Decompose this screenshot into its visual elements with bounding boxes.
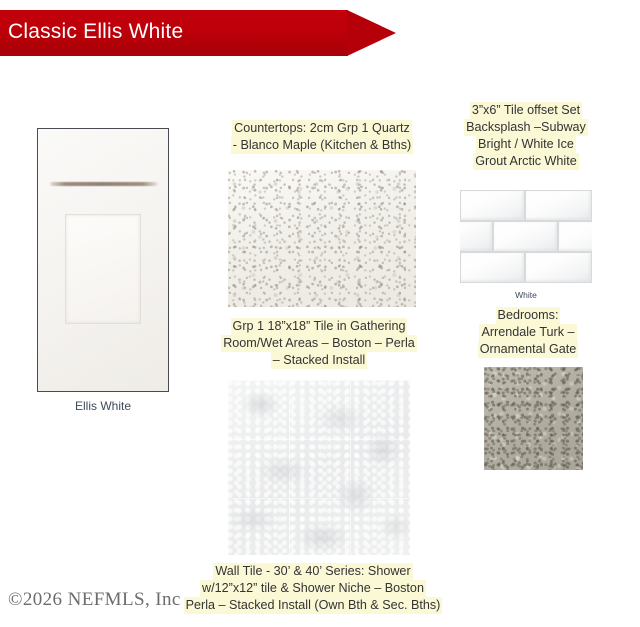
backsplash-label: 3”x6” Tile offset Set Backsplash –Subway… <box>450 102 602 170</box>
subway-tile-caption: White <box>460 290 592 300</box>
wall-tile-label-line-3: Perla – Stacked Install (Own Bth & Sec. … <box>184 597 443 614</box>
subway-tile-unit <box>526 191 591 220</box>
subway-tile-unit <box>526 253 591 282</box>
backsplash-label-line-2: Backsplash –Subway <box>464 119 588 136</box>
carpet-label-line-3: Ornamental Gate <box>478 341 579 358</box>
countertop-label-line-1: Countertops: 2cm Grp 1 Quartz <box>232 120 412 137</box>
cabinet-door-sample <box>37 128 169 392</box>
cabinet-caption: Ellis White <box>37 399 169 413</box>
subway-tile-unit <box>494 222 557 251</box>
subway-tile-unit <box>461 191 524 220</box>
floor-tile-label-line-1: Grp 1 18”x18” Tile in Gathering <box>231 318 408 335</box>
cabinet-recessed-panel <box>65 214 141 324</box>
backsplash-label-line-1: 3”x6” Tile offset Set <box>470 102 582 119</box>
floor-tile-sample <box>228 380 410 555</box>
wall-tile-label-line-1: Wall Tile - 30’ & 40’ Series: Shower <box>213 563 412 580</box>
subway-tile-unit <box>460 222 492 251</box>
backsplash-label-line-4: Grout Arctic White <box>473 153 578 170</box>
page-title: Classic Ellis White <box>8 20 183 44</box>
carpet-sample <box>484 367 583 470</box>
carpet-label-line-1: Bedrooms: <box>496 307 561 324</box>
floor-tile-label-line-3: – Stacked Install <box>271 352 367 369</box>
countertop-label-line-2: - Blanco Maple (Kitchen & Bths) <box>231 137 414 154</box>
cabinet-drawer-line <box>50 182 158 186</box>
wall-tile-label-line-2: w/12”x12” tile & Shower Niche – Boston <box>200 580 426 597</box>
floor-tile-label: Grp 1 18”x18” Tile in Gathering Room/Wet… <box>200 318 438 369</box>
backsplash-label-line-3: Bright / White Ice <box>476 136 576 153</box>
subway-tile-unit <box>461 253 524 282</box>
banner-arrow-point <box>347 10 396 56</box>
bedroom-carpet-label: Bedrooms: Arrendale Turk – Ornamental Ga… <box>462 307 594 358</box>
header-banner: Classic Ellis White <box>0 10 396 56</box>
subway-tile-unit <box>559 222 592 251</box>
subway-tile-sample <box>460 190 592 283</box>
countertop-label: Countertops: 2cm Grp 1 Quartz - Blanco M… <box>214 120 430 154</box>
carpet-label-line-2: Arrendale Turk – <box>479 324 576 341</box>
wall-tile-label: Wall Tile - 30’ & 40’ Series: Shower w/1… <box>148 563 478 614</box>
floor-tile-label-line-2: Room/Wet Areas – Boston – Perla <box>221 335 417 352</box>
quartz-countertop-sample <box>228 170 416 307</box>
copyright-watermark: ©2026 NEFMLS, Inc <box>8 589 181 611</box>
